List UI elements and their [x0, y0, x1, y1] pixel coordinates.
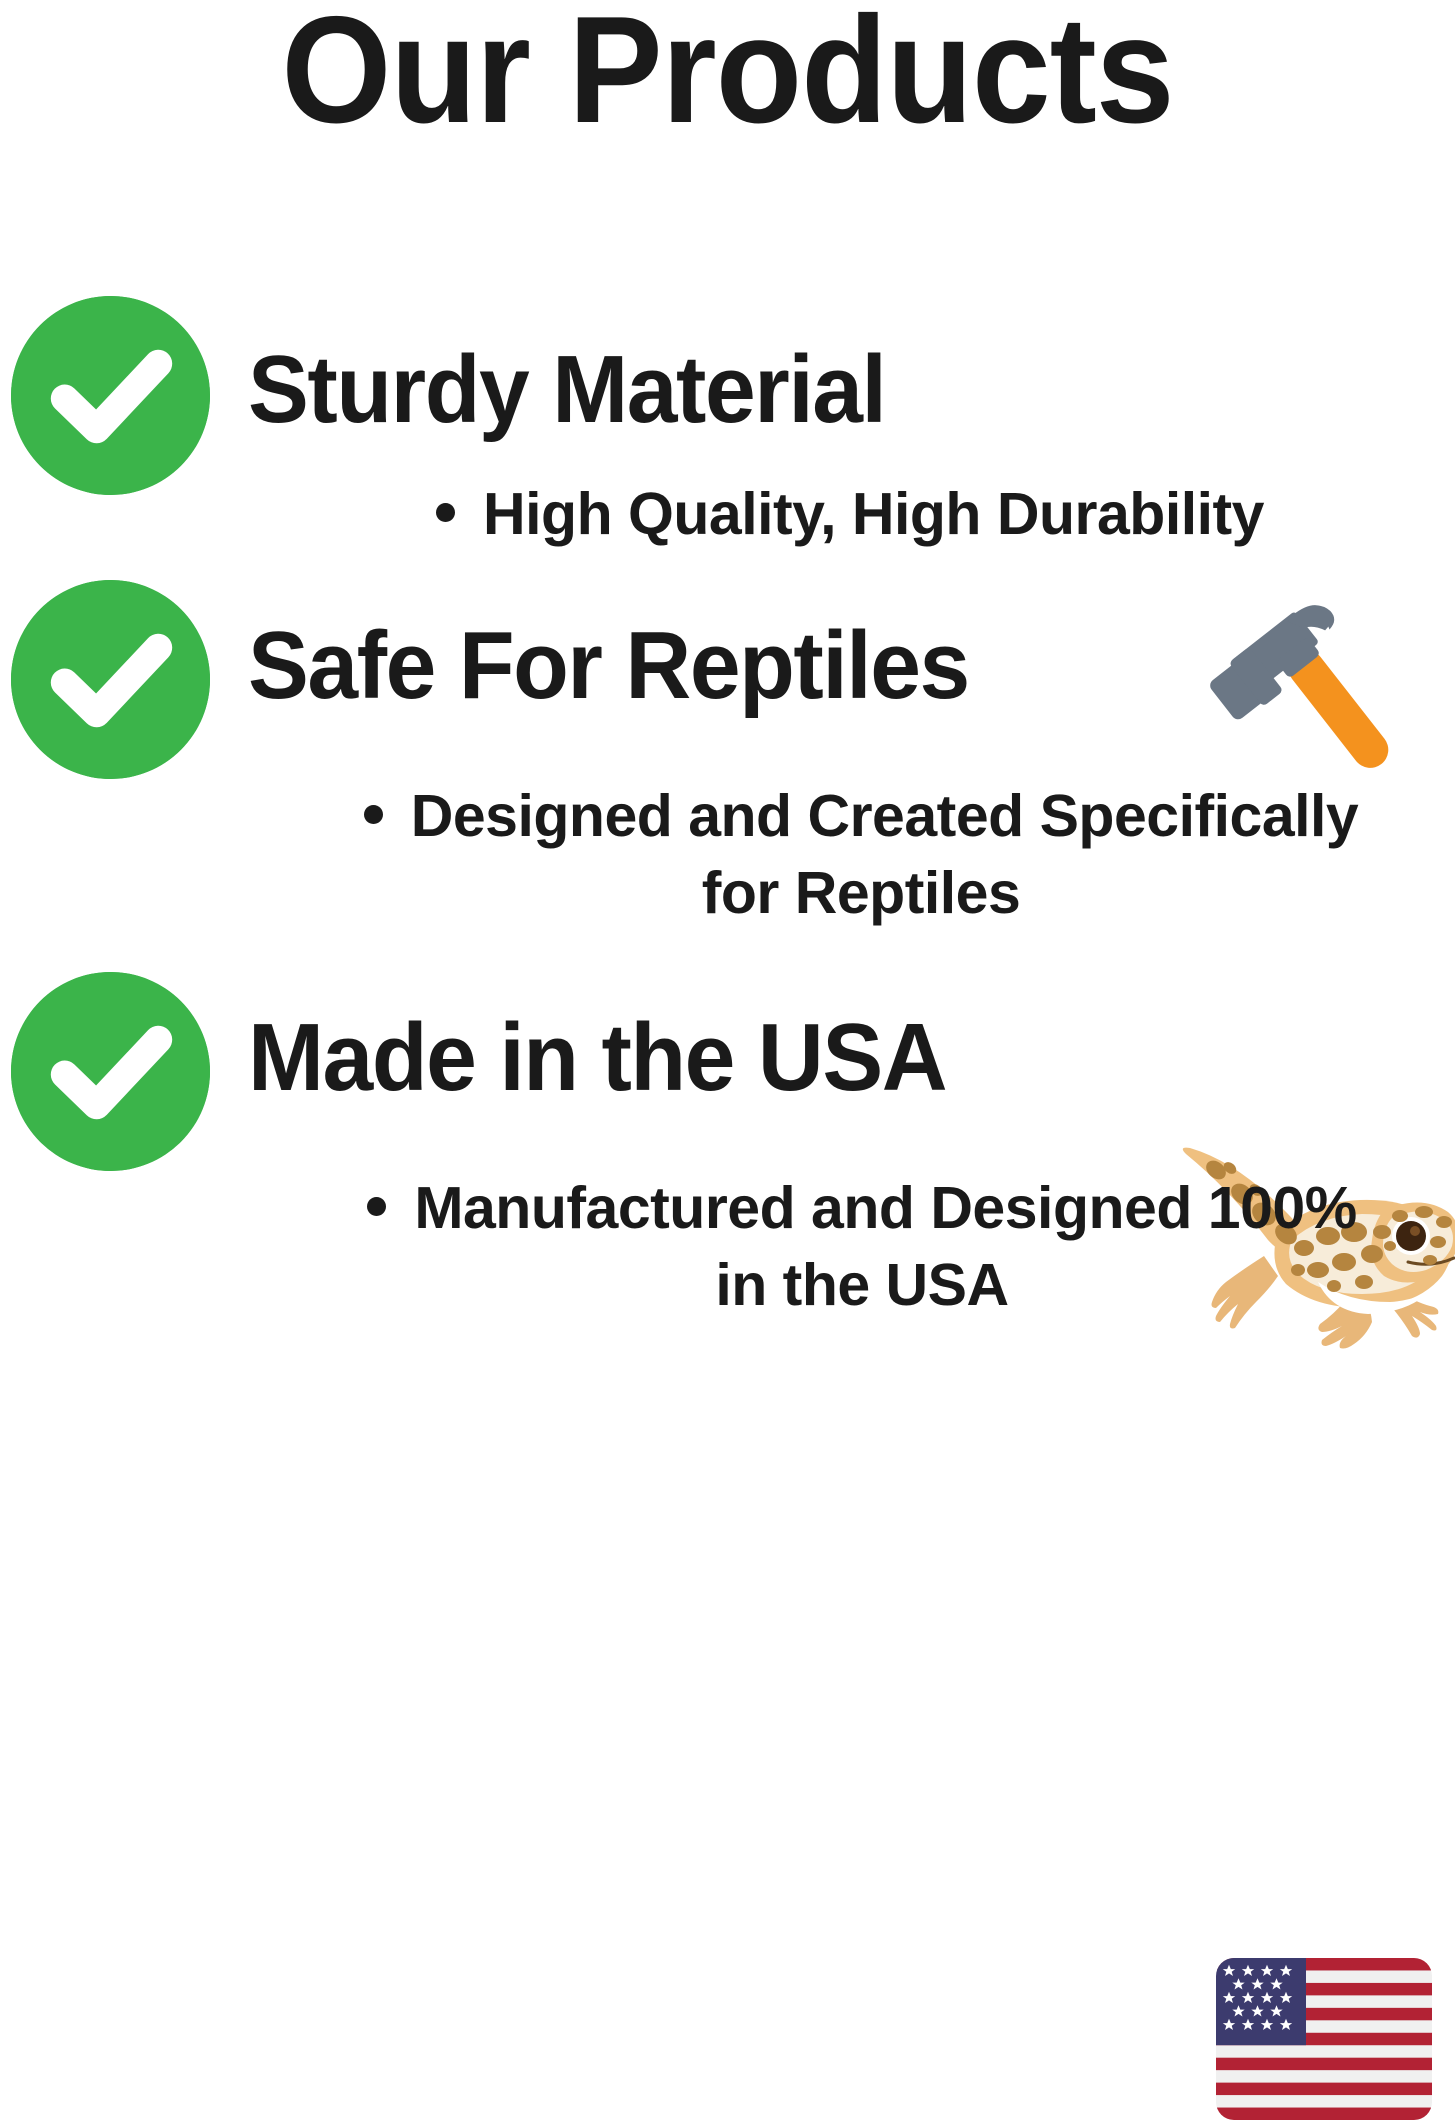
- product-features-infographic: Our Products Sturdy Material High Qualit…: [0, 0, 1455, 1324]
- feature-bullet-list: Manufactured and Designed 100% in the US…: [276, 1170, 1448, 1323]
- feature-heading: Safe For Reptiles: [248, 618, 969, 714]
- list-item-continuation: in the USA: [276, 1247, 1448, 1324]
- feature-heading: Made in the USA: [248, 1010, 946, 1106]
- feature-bullet-list: Designed and Created Specifically for Re…: [276, 778, 1446, 931]
- list-item: Designed and Created Specifically: [276, 778, 1446, 855]
- list-item-label: Designed and Created Specifically: [411, 783, 1359, 849]
- list-item-label: Manufactured and Designed 100%: [414, 1175, 1356, 1241]
- list-item-label-line2: for Reptiles: [702, 860, 1021, 926]
- list-item-continuation: for Reptiles: [276, 855, 1446, 932]
- us-flag-icon: [1216, 1958, 1432, 2120]
- list-item-label-line2: in the USA: [715, 1252, 1008, 1318]
- hammer-icon: [1200, 590, 1425, 785]
- bullet-dot-icon: [367, 1197, 386, 1216]
- bullet-dot-icon: [364, 805, 383, 824]
- check-circle-icon: [11, 972, 210, 1171]
- list-item: Manufactured and Designed 100%: [276, 1170, 1448, 1247]
- list-item: High Quality, High Durability: [285, 476, 1415, 553]
- list-item-label: High Quality, High Durability: [483, 481, 1264, 547]
- feature-bullet-list: High Quality, High Durability: [285, 476, 1415, 553]
- feature-heading: Sturdy Material: [248, 342, 885, 438]
- check-circle-icon: [11, 296, 210, 495]
- page-title: Our Products: [51, 0, 1404, 146]
- check-circle-icon: [11, 580, 210, 779]
- bullet-dot-icon: [436, 503, 455, 522]
